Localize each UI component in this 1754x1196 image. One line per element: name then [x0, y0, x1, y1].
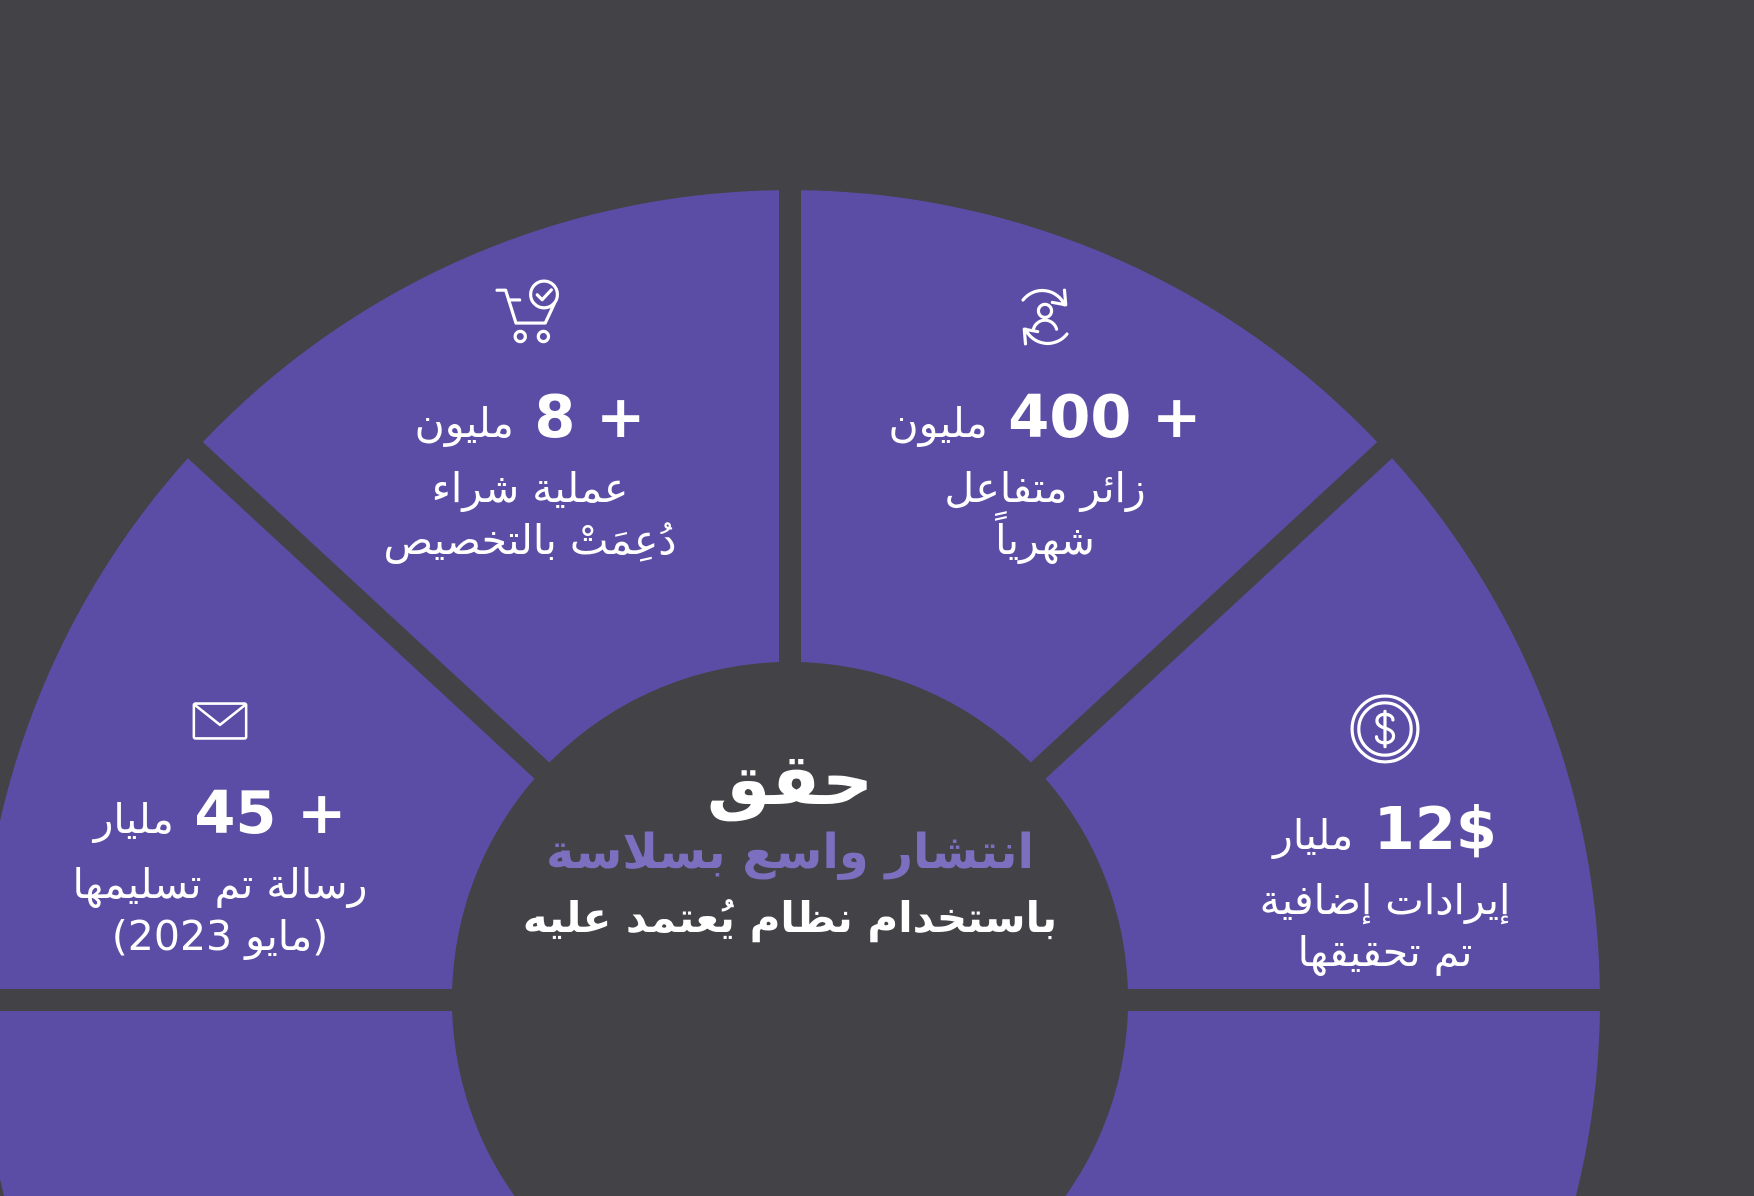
- center-headline-block: حقق انتشار واسع بسلاسة باستخدام نظام يُع…: [455, 740, 1125, 944]
- segment-visitors-label: زائر متفاعل شهرياً: [845, 462, 1245, 567]
- shopping-cart-check-icon: [491, 278, 569, 356]
- user-refresh-icon: [1006, 278, 1084, 356]
- segment-messages-value: + 45 مليار: [20, 778, 420, 848]
- radial-segment-wheel: [0, 0, 1754, 1196]
- segment-purchases-label: عملية شراء دُعِمَتْ بالتخصيص: [330, 462, 730, 567]
- segment-revenue-text[interactable]: 12$ مليار إيرادات إضافية تم تحقيقها: [1185, 690, 1585, 979]
- center-headline-accent: انتشار واسع بسلاسة: [455, 824, 1125, 882]
- infographic-canvas: + 8 مليون عملية شراء دُعِمَتْ بالتخصيص +…: [0, 0, 1754, 1196]
- segment-visitors-text[interactable]: + 400 مليون زائر متفاعل شهرياً: [845, 278, 1245, 567]
- center-headline-primary: حقق: [455, 740, 1125, 820]
- segment-messages-label: رسالة تم تسليمها (مايو 2023): [20, 858, 420, 963]
- dollar-coin-icon: [1346, 690, 1424, 768]
- center-headline-subtitle: باستخدام نظام يُعتمد عليه: [455, 893, 1125, 943]
- segment-messages-text[interactable]: + 45 مليار رسالة تم تسليمها (مايو 2023): [20, 690, 420, 963]
- segment-revenue-label: إيرادات إضافية تم تحقيقها: [1185, 874, 1585, 979]
- segment-purchases-text[interactable]: + 8 مليون عملية شراء دُعِمَتْ بالتخصيص: [330, 278, 730, 567]
- segment-purchases-value: + 8 مليون: [330, 382, 730, 452]
- segment-visitors-value: + 400 مليون: [845, 382, 1245, 452]
- envelope-icon: [181, 690, 259, 752]
- segment-revenue-value: 12$ مليار: [1185, 794, 1585, 864]
